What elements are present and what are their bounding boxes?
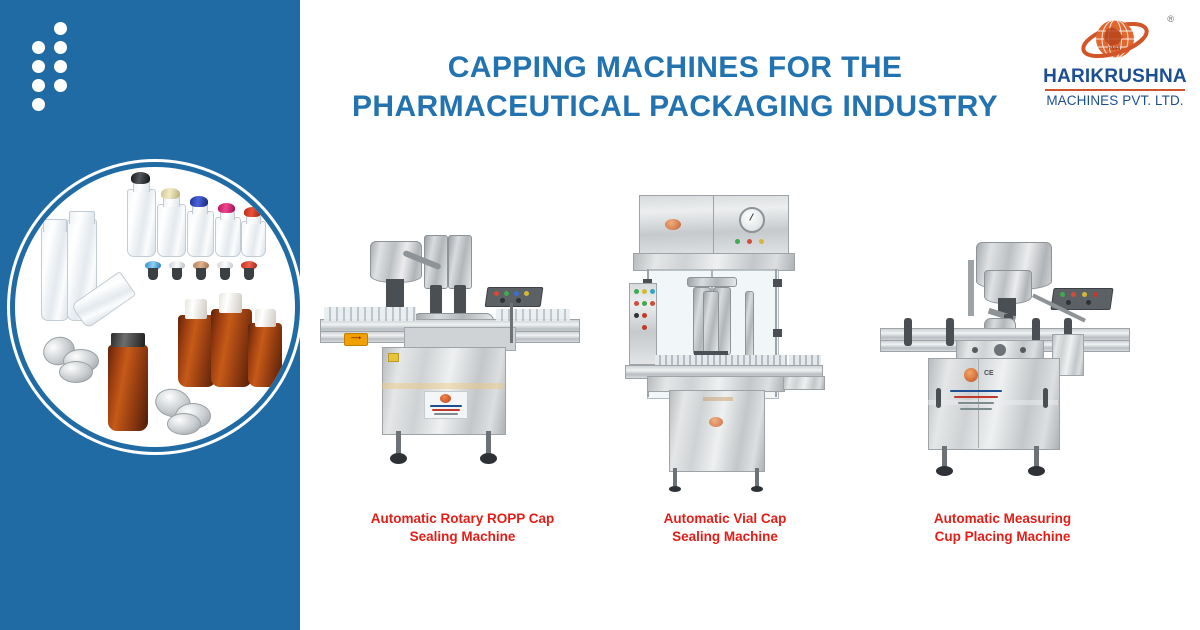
logo-company-suffix: MACHINES PVT. LTD. (1040, 94, 1190, 108)
product-caption-vial-cap: Automatic Vial Cap Sealing Machine (625, 510, 825, 546)
pharmaceutical-containers-photo (15, 167, 295, 447)
automatic-measuring-cup-placing-machine-photo: CE (880, 240, 1130, 490)
logo-company-name: HARIKRUSHNA (1040, 67, 1190, 86)
company-logo[interactable]: HMPL ® HARIKRUSHNA MACHINES PVT. LTD. (1040, 14, 1190, 114)
logo-divider (1045, 89, 1185, 91)
caption-line-1: Automatic Measuring (890, 510, 1115, 528)
caption-line-1: Automatic Rotary ROPP Cap (325, 510, 600, 528)
title-line-1: Capping Machines for the (330, 48, 1020, 87)
registered-trademark-icon: ® (1167, 14, 1174, 24)
product-caption-rotary-ropp: Automatic Rotary ROPP Cap Sealing Machin… (325, 510, 600, 546)
globe-ring-icon: HMPL ® (1040, 14, 1190, 66)
caption-line-2: Sealing Machine (625, 528, 825, 546)
title-line-2: Pharmaceutical Packaging Industry (330, 87, 1020, 126)
left-blue-panel (0, 0, 300, 630)
caption-line-2: Cup Placing Machine (890, 528, 1115, 546)
caption-line-2: Sealing Machine (325, 528, 600, 546)
automatic-vial-cap-sealing-machine-photo (625, 195, 825, 490)
poster-canvas: Capping Machines for the Pharmaceutical … (0, 0, 1200, 630)
caption-line-1: Automatic Vial Cap (625, 510, 825, 528)
automatic-rotary-ropp-cap-sealing-machine-photo: ⟶ (320, 235, 580, 495)
svg-text:HMPL: HMPL (1108, 46, 1122, 52)
product-showcase-circle (7, 159, 303, 455)
product-caption-measuring-cup: Automatic Measuring Cup Placing Machine (890, 510, 1115, 546)
dot-grid-icon (28, 22, 88, 98)
page-title: Capping Machines for the Pharmaceutical … (330, 48, 1020, 126)
